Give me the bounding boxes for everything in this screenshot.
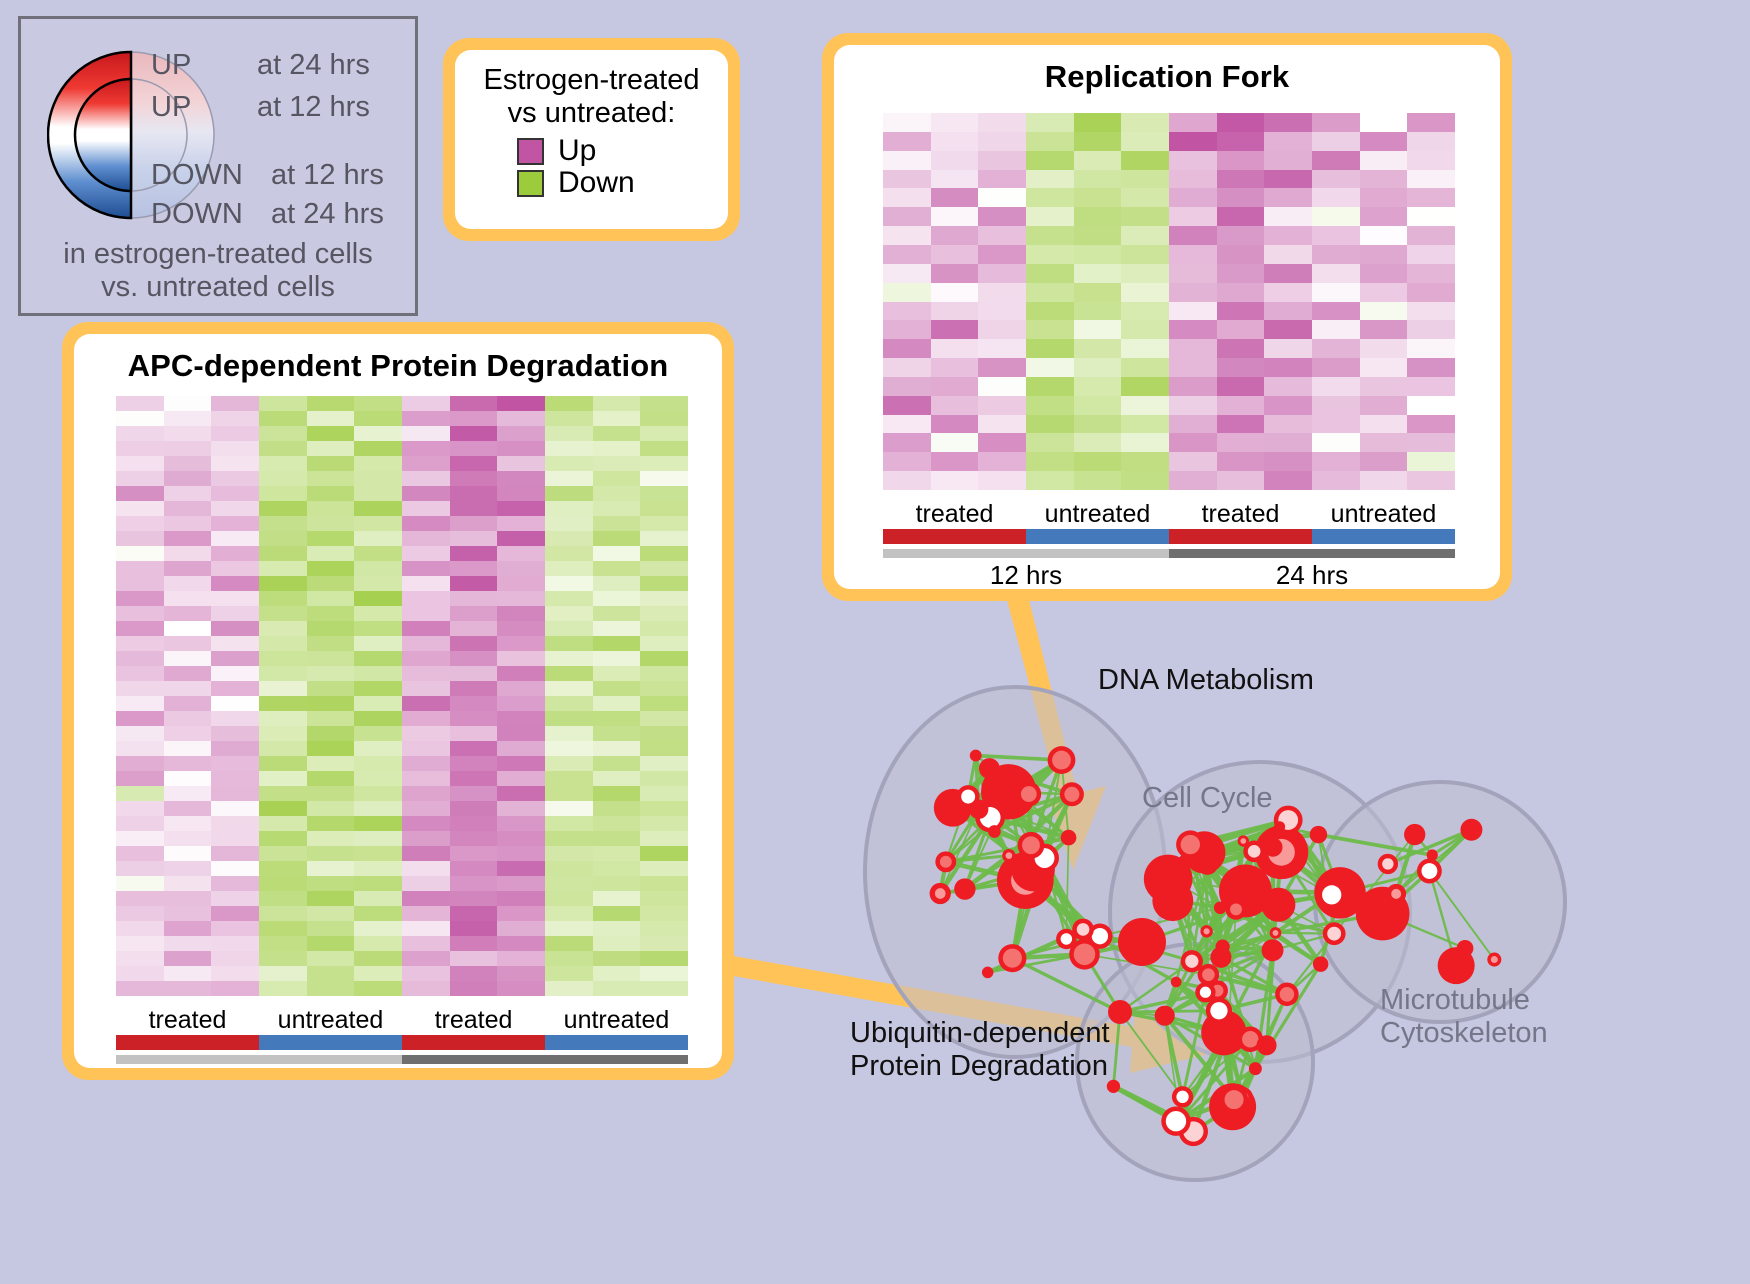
heatmap-cell (402, 936, 450, 951)
heatmap-cell (307, 441, 355, 456)
heatmap-cell (883, 245, 931, 264)
heatmap-cell (1407, 471, 1455, 490)
heatmap-cell (1407, 396, 1455, 415)
heatmap-cell (931, 471, 979, 490)
heatmap-cell (1360, 283, 1408, 302)
heatmap-cell (450, 816, 498, 831)
heatmap-cell (1312, 283, 1360, 302)
heatmap-cell (1360, 113, 1408, 132)
network-node[interactable] (1118, 918, 1166, 966)
heatmap-cell (211, 891, 259, 906)
network-node-core (1064, 787, 1079, 802)
heatmap-cell (450, 591, 498, 606)
heatmap-cell (593, 771, 641, 786)
heatmap-cell (1407, 207, 1455, 226)
heatmap-cell (545, 816, 593, 831)
heatmap-cell (164, 681, 212, 696)
heatmap-cell (1407, 302, 1455, 321)
heatmap-cell (883, 358, 931, 377)
heatmap-cell (164, 726, 212, 741)
heatmap-cell (307, 981, 355, 996)
network-node[interactable] (1310, 826, 1327, 843)
heatmap-cell (1074, 339, 1122, 358)
network-node-core (935, 888, 946, 899)
heatmap-cell (116, 921, 164, 936)
network-node[interactable] (1061, 830, 1077, 846)
heatmap-cell (211, 981, 259, 996)
heatmap-cell (116, 786, 164, 801)
network-node[interactable] (982, 967, 993, 978)
heatmap-cell (116, 756, 164, 771)
heatmap-cell (1217, 471, 1265, 490)
heatmap-cell (1264, 320, 1312, 339)
heatmap-cell (545, 906, 593, 921)
heatmap-cell (1264, 113, 1312, 132)
heatmap-cell (354, 591, 402, 606)
heatmap-cell (545, 591, 593, 606)
network-node[interactable] (1261, 888, 1295, 922)
heatmap-cell (402, 441, 450, 456)
heatmap-cell (1217, 113, 1265, 132)
heatmap-cell (593, 861, 641, 876)
heatmap-cell (164, 636, 212, 651)
heatmap-cell (259, 846, 307, 861)
heatmap-cell (1217, 452, 1265, 471)
heatmap-cell (640, 921, 688, 936)
network-node[interactable] (1249, 1062, 1262, 1075)
heatmap-cell (640, 846, 688, 861)
heatmap-cell (1312, 226, 1360, 245)
heatmap-cell (259, 951, 307, 966)
heatmap-cell (211, 726, 259, 741)
heatmap-cell (883, 339, 931, 358)
network-node[interactable] (1427, 849, 1438, 860)
heatmap-cell (1360, 170, 1408, 189)
heatmap-cell (450, 861, 498, 876)
heatmap-cell (164, 846, 212, 861)
heatmap-cell (116, 561, 164, 576)
heatmap-cell (116, 666, 164, 681)
heatmap-cell (497, 411, 545, 426)
heatmap-cell (593, 471, 641, 486)
condition-bar-treated (883, 529, 1026, 544)
heatmap-cell (978, 170, 1026, 189)
heatmap-cell (402, 621, 450, 636)
heatmap-cell (402, 906, 450, 921)
heatmap-cell (593, 936, 641, 951)
heatmap-cell (1407, 452, 1455, 471)
apc-degradation-heatmap (116, 396, 688, 996)
heatmap-cell (354, 831, 402, 846)
heatmap-cell (497, 681, 545, 696)
heatmap-cell (116, 681, 164, 696)
network-node-core (1074, 944, 1096, 966)
heatmap-cell (931, 302, 979, 321)
heatmap-cell (497, 531, 545, 546)
heatmap-cell (211, 921, 259, 936)
heatmap-cell (640, 981, 688, 996)
heatmap-cell (116, 411, 164, 426)
heatmap-cell (1217, 245, 1265, 264)
heatmap-cell (450, 501, 498, 516)
heatmap-cell (211, 636, 259, 651)
heatmap-cell (307, 801, 355, 816)
heatmap-cell (883, 377, 931, 396)
heatmap-cell (402, 606, 450, 621)
heatmap-cell (1169, 339, 1217, 358)
heatmap-cell (259, 801, 307, 816)
heatmap-cell (164, 741, 212, 756)
heatmap-cell (1312, 377, 1360, 396)
heatmap-cell (402, 801, 450, 816)
heatmap-cell (116, 966, 164, 981)
heatmap-cell (1026, 113, 1074, 132)
heatmap-cell (307, 846, 355, 861)
heatmap-cell (931, 264, 979, 283)
heatmap-cell (545, 636, 593, 651)
heatmap-cell (354, 501, 402, 516)
colorkey-caption-line2: vs. untreated cells (21, 271, 415, 305)
heatmap-cell (497, 696, 545, 711)
heatmap-cell (211, 546, 259, 561)
heatmap-cell (593, 426, 641, 441)
heatmap-cell (164, 861, 212, 876)
heatmap-cell (402, 696, 450, 711)
heatmap-cell (1074, 245, 1122, 264)
time-label: 24 hrs (1169, 560, 1455, 589)
heatmap-cell (640, 681, 688, 696)
network-node-core (1421, 863, 1437, 879)
heatmap-cell (931, 452, 979, 471)
network-node[interactable] (1404, 824, 1425, 845)
heatmap-cell (402, 861, 450, 876)
heatmap-cell (164, 546, 212, 561)
heatmap-cell (259, 501, 307, 516)
network-node-core (1225, 1090, 1244, 1109)
heatmap-cell (1169, 170, 1217, 189)
heatmap-cell (450, 546, 498, 561)
network-node[interactable] (1264, 838, 1283, 857)
heatmap-cell (545, 921, 593, 936)
heatmap-cell (1074, 188, 1122, 207)
heatmap-cell (354, 456, 402, 471)
heatmap-cell (211, 396, 259, 411)
heatmap-cell (402, 741, 450, 756)
heatmap-cell (354, 846, 402, 861)
heatmap-cell (354, 966, 402, 981)
heatmap-cell (164, 876, 212, 891)
heatmap-cell (931, 377, 979, 396)
heatmap-cell (545, 786, 593, 801)
heatmap-cell (497, 906, 545, 921)
network-node[interactable] (954, 878, 975, 899)
heatmap-cell (593, 441, 641, 456)
heatmap-cell (1264, 170, 1312, 189)
heatmap-cell (354, 786, 402, 801)
heatmap-cell (1407, 113, 1455, 132)
heatmap-cell (1026, 358, 1074, 377)
heatmap-cell (307, 861, 355, 876)
heatmap-cell (211, 951, 259, 966)
heatmap-cell (640, 396, 688, 411)
network-node-core (1491, 956, 1498, 963)
heatmap-cell (545, 651, 593, 666)
heatmap-cell (1264, 207, 1312, 226)
heatmap-cell (497, 441, 545, 456)
heatmap-cell (450, 486, 498, 501)
heatmap-cell (259, 831, 307, 846)
heatmap-cell (978, 207, 1026, 226)
heatmap-cell (1360, 433, 1408, 452)
heatmap-cell (354, 756, 402, 771)
heatmap-cell (931, 207, 979, 226)
heatmap-cell (1217, 283, 1265, 302)
heatmap-cell (1312, 433, 1360, 452)
heatmap-cell (402, 501, 450, 516)
heatmap-cell (545, 831, 593, 846)
condition-bar-treated (1169, 529, 1312, 544)
network-node[interactable] (988, 825, 1001, 838)
heatmap-cell (354, 681, 402, 696)
heatmap-cell (450, 801, 498, 816)
heatmap-cell (1360, 302, 1408, 321)
heatmap-cell (931, 283, 979, 302)
heatmap-cell (307, 621, 355, 636)
heatmap-cell (259, 456, 307, 471)
heatmap-cell (978, 113, 1026, 132)
heatmap-cell (1026, 170, 1074, 189)
time-bar-24hrs (1169, 549, 1455, 558)
heatmap-cell (978, 452, 1026, 471)
heatmap-cell (1312, 302, 1360, 321)
heatmap-cell (116, 621, 164, 636)
heatmap-cell (545, 951, 593, 966)
heatmap-cell (497, 606, 545, 621)
heatmap-cell (931, 170, 979, 189)
replication-fork-panel: Replication Fork treated untreated treat… (822, 33, 1512, 601)
heatmap-cell (354, 876, 402, 891)
heatmap-cell (593, 891, 641, 906)
colorkey-label-down-12: DOWN (151, 159, 243, 192)
heatmap-cell (1407, 358, 1455, 377)
heatmap-cell (211, 861, 259, 876)
network-node[interactable] (1214, 901, 1227, 914)
heatmap-cell (259, 666, 307, 681)
heatmap-cell (593, 546, 641, 561)
heatmap-cell (931, 113, 979, 132)
heatmap-cell (1121, 358, 1169, 377)
heatmap-cell (211, 966, 259, 981)
heatmap-cell (1264, 245, 1312, 264)
heatmap-cell (211, 576, 259, 591)
network-node[interactable] (1171, 977, 1182, 988)
condition-label: treated (402, 1006, 545, 1035)
heatmap-cell (1217, 433, 1265, 452)
heatmap-cell (1312, 452, 1360, 471)
network-node-core (1006, 852, 1013, 859)
network-node[interactable] (1108, 1000, 1132, 1024)
heatmap-cell (593, 561, 641, 576)
heatmap-cell (1169, 151, 1217, 170)
heatmap-cell (931, 320, 979, 339)
heatmap-cell (450, 726, 498, 741)
heatmap-cell (1264, 283, 1312, 302)
condition-bar-treated (402, 1035, 545, 1050)
heatmap-cell (640, 696, 688, 711)
heatmap-cell (497, 786, 545, 801)
heatmap-cell (1026, 207, 1074, 226)
network-node[interactable] (1155, 1006, 1175, 1026)
heatmap-cell (1312, 207, 1360, 226)
network-node[interactable] (1274, 821, 1285, 832)
heatmap-cell (640, 531, 688, 546)
network-node-core (1021, 786, 1037, 802)
heatmap-cell (164, 471, 212, 486)
heatmap-cell (1407, 433, 1455, 452)
apc-degradation-title: APC-dependent Protein Degradation (74, 348, 722, 384)
heatmap-cell (1121, 452, 1169, 471)
heatmap-cell (883, 433, 931, 452)
heatmap-cell (259, 636, 307, 651)
heatmap-cell (402, 771, 450, 786)
condition-label: treated (116, 1006, 259, 1035)
heatmap-cell (402, 456, 450, 471)
heatmap-cell (640, 951, 688, 966)
heatmap-cell (593, 921, 641, 936)
heatmap-cell (545, 576, 593, 591)
heatmap-cell (545, 426, 593, 441)
heatmap-cell (1074, 377, 1122, 396)
heatmap-cell (354, 666, 402, 681)
heatmap-cell (307, 936, 355, 951)
heatmap-cell (307, 831, 355, 846)
heatmap-cell (307, 516, 355, 531)
heatmap-cell (1264, 151, 1312, 170)
heatmap-cell (307, 681, 355, 696)
heatmap-cell (450, 966, 498, 981)
heatmap-cell (259, 741, 307, 756)
heatmap-cell (259, 696, 307, 711)
heatmap-cell (164, 486, 212, 501)
network-node[interactable] (1457, 940, 1474, 957)
network-node[interactable] (1313, 956, 1329, 972)
heatmap-cell (354, 636, 402, 651)
heatmap-cell (497, 726, 545, 741)
heatmap-cell (1264, 358, 1312, 377)
heatmap-cell (1169, 471, 1217, 490)
heatmap-cell (978, 264, 1026, 283)
cluster-label-line1: Ubiquitin-dependent (850, 1017, 1110, 1050)
heatmap-cell (211, 786, 259, 801)
heatmap-cell (545, 411, 593, 426)
heatmap-cell (259, 906, 307, 921)
heatmap-cell (259, 411, 307, 426)
heatmap-cell (307, 891, 355, 906)
heatmap-cell (1360, 245, 1408, 264)
heatmap-cell (116, 891, 164, 906)
heatmap-cell (1360, 377, 1408, 396)
heatmap-cell (497, 936, 545, 951)
heatmap-cell (593, 816, 641, 831)
heatmap-cell (1074, 415, 1122, 434)
time-bar-12hrs (883, 549, 1169, 558)
heatmap-cell (640, 786, 688, 801)
heatmap-cell (1169, 415, 1217, 434)
heatmap-cell (1264, 415, 1312, 434)
heatmap-cell (402, 576, 450, 591)
heatmap-cell (307, 396, 355, 411)
condition-bar-untreated (545, 1035, 688, 1050)
network-node-core (1166, 1111, 1186, 1131)
heatmap-cell (593, 801, 641, 816)
heatmap-cell (402, 711, 450, 726)
heatmap-cell (116, 651, 164, 666)
heatmap-cell (497, 981, 545, 996)
heatmap-cell (1074, 226, 1122, 245)
heatmap-cell (545, 756, 593, 771)
heatmap-cell (450, 711, 498, 726)
heatmap-cell (1026, 433, 1074, 452)
heatmap-cell (1121, 339, 1169, 358)
legend-label-down: Down (558, 168, 635, 198)
heatmap-cell (259, 711, 307, 726)
heatmap-cell (1264, 452, 1312, 471)
heatmap-cell (164, 501, 212, 516)
heatmap-cell (259, 966, 307, 981)
heatmap-cell (1217, 264, 1265, 283)
heatmap-cell (259, 621, 307, 636)
network-node[interactable] (1216, 940, 1230, 954)
heatmap-cell (593, 651, 641, 666)
heatmap-cell (545, 486, 593, 501)
heatmap-cell (259, 516, 307, 531)
heatmap-cell (259, 861, 307, 876)
heatmap-cell (497, 666, 545, 681)
heatmap-cell (1217, 377, 1265, 396)
heatmap-cell (259, 876, 307, 891)
heatmap-cell (211, 906, 259, 921)
heatmap-cell (164, 981, 212, 996)
heatmap-cell (354, 561, 402, 576)
network-node[interactable] (979, 758, 1000, 779)
heatmap-cell (450, 516, 498, 531)
heatmap-cell (307, 501, 355, 516)
network-node[interactable] (1257, 1035, 1277, 1055)
network-node[interactable] (970, 750, 982, 762)
heatmap-cell (1360, 358, 1408, 377)
heatmap-cell (402, 681, 450, 696)
network-node[interactable] (1460, 819, 1482, 841)
network-node[interactable] (1152, 880, 1193, 921)
time-label: 12 hrs (883, 560, 1169, 589)
heatmap-cell (497, 456, 545, 471)
heatmap-cell (1360, 226, 1408, 245)
network-node[interactable] (1197, 853, 1218, 874)
heatmap-cell (164, 771, 212, 786)
heatmap-cell (640, 516, 688, 531)
heatmap-cell (211, 741, 259, 756)
heatmap-cell (593, 531, 641, 546)
heatmap-cell (883, 452, 931, 471)
network-node[interactable] (1262, 939, 1284, 961)
heatmap-cell (497, 396, 545, 411)
heatmap-cell (593, 876, 641, 891)
heatmap-cell (402, 891, 450, 906)
heatmap-cell (307, 921, 355, 936)
heatmap-cell (259, 546, 307, 561)
heatmap-cell (307, 726, 355, 741)
heatmap-cell (978, 302, 1026, 321)
